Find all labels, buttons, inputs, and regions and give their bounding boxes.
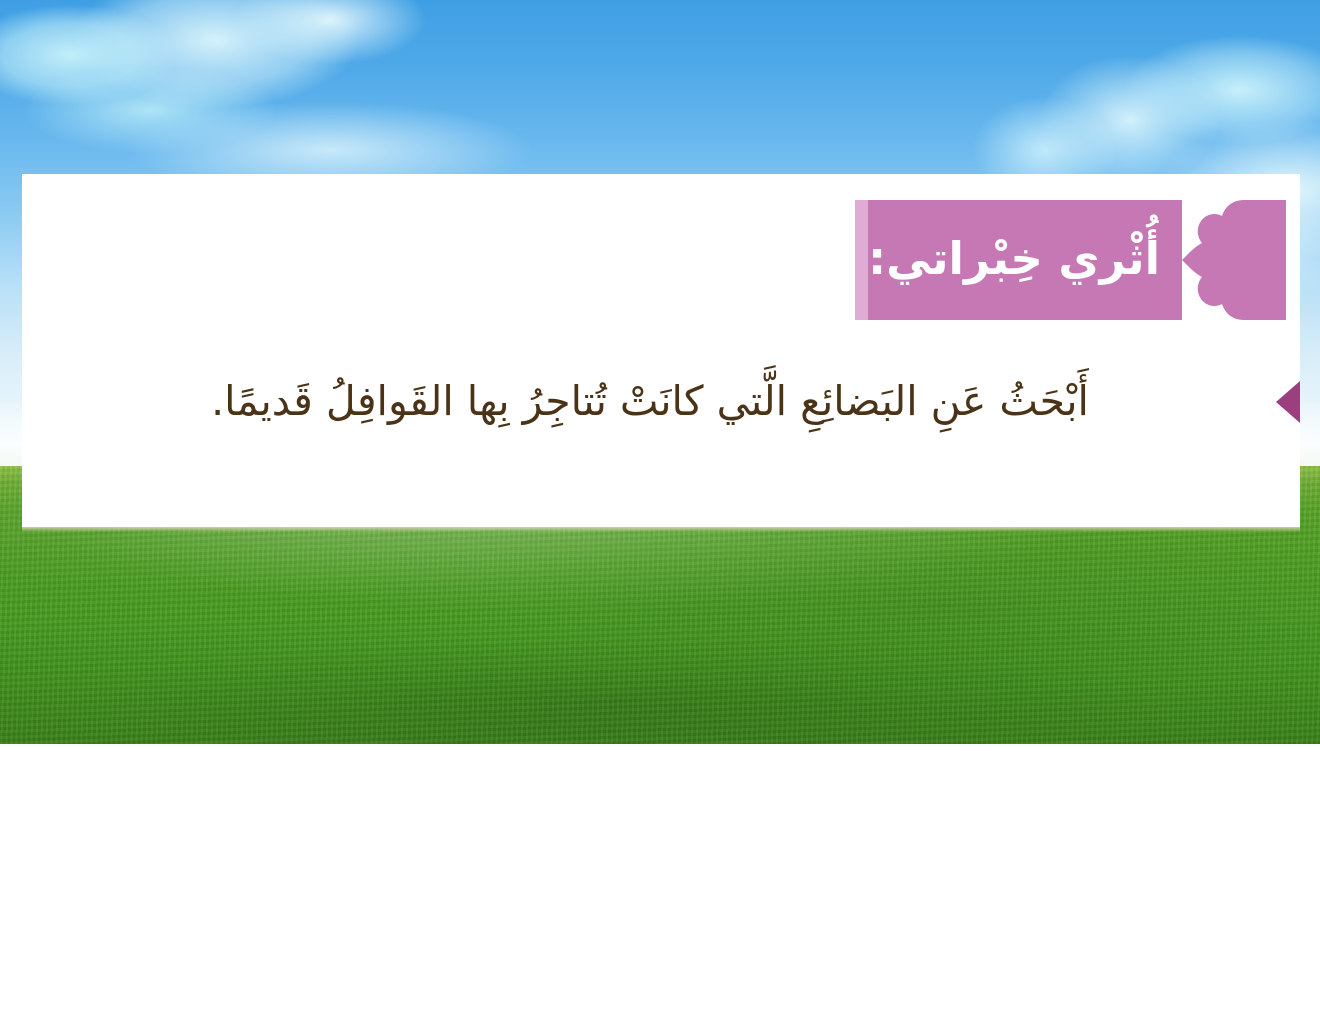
heading-banner: أُثْري خِبْراتي:	[855, 200, 1286, 320]
card-shadow	[22, 527, 1300, 532]
task-text: أَبْحَثُ عَنِ البَضائِعِ الَّتي كانَتْ ت…	[40, 372, 1260, 431]
slide-canvas: أُثْري خِبْراتي: أَبْحَثُ عَنِ البَضائِع…	[0, 0, 1320, 1020]
page-title: أُثْري خِبْراتي:	[868, 236, 1160, 285]
heading-banner-edge	[855, 200, 868, 320]
triangle-bullet-icon	[1276, 381, 1300, 423]
heading-banner-body: أُثْري خِبْراتي:	[868, 200, 1182, 320]
cloud-scallop-ornament-icon	[1182, 200, 1286, 320]
task-row: أَبْحَثُ عَنِ البَضائِعِ الَّتي كانَتْ ت…	[40, 372, 1300, 431]
